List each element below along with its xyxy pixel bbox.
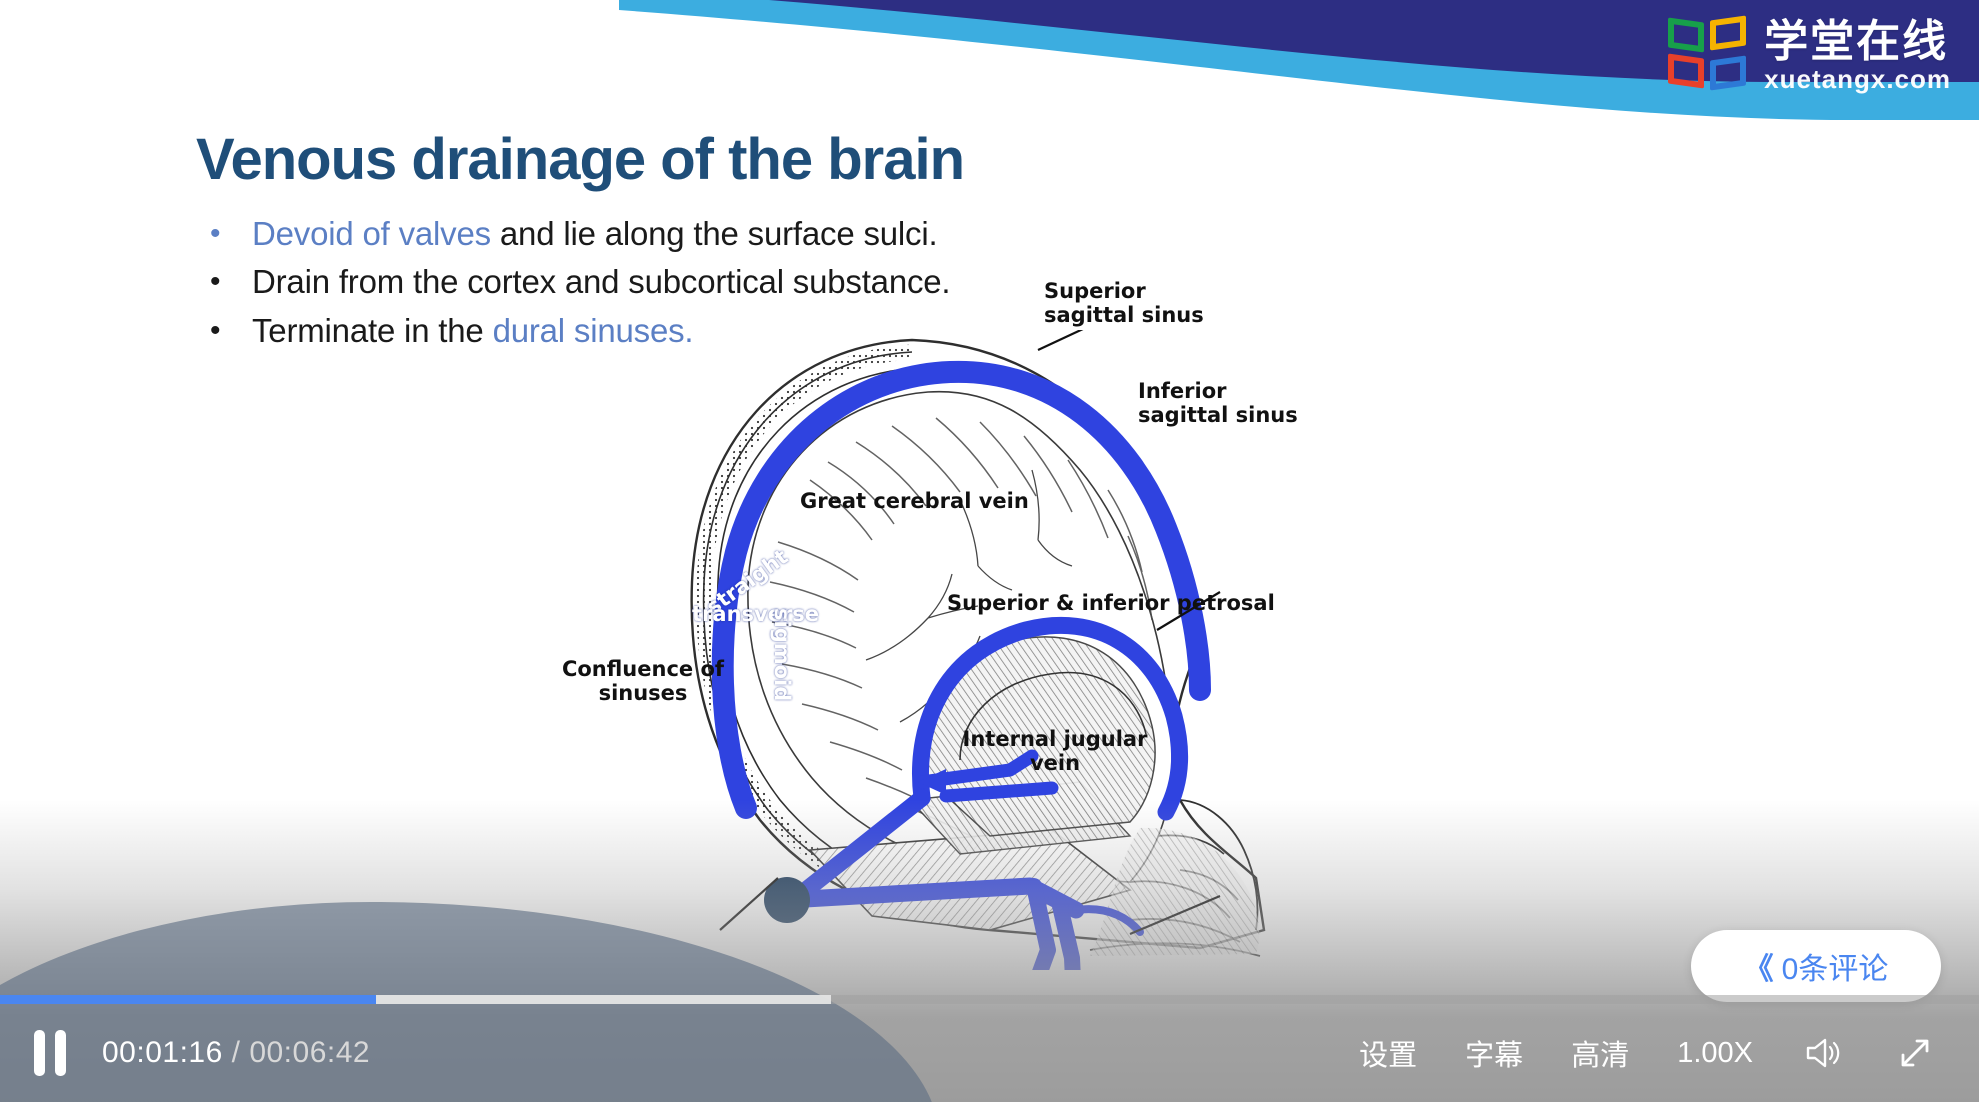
bullet-rest: Terminate in the xyxy=(252,312,493,349)
progress-played xyxy=(0,995,376,1004)
fullscreen-button[interactable] xyxy=(1893,1031,1937,1075)
list-item: • Devoid of valves and lie along the sur… xyxy=(210,215,1310,253)
playback-speed-button[interactable]: 1.00X xyxy=(1677,1037,1753,1070)
label-internal-jugular-vein: Internal jugularvein xyxy=(955,728,1155,775)
volume-button[interactable] xyxy=(1801,1031,1845,1075)
bullet-rest: Drain from the cortex and subcortical su… xyxy=(252,263,950,300)
label-sigmoid-sinus: sigmoid xyxy=(770,608,794,701)
chevron-left-icon: 《 xyxy=(1744,944,1770,988)
bullet-glyph: • xyxy=(210,263,252,301)
time-display: 00:01:16 / 00:06:42 xyxy=(102,1036,370,1070)
current-time: 00:01:16 xyxy=(102,1036,223,1069)
label-superior-sagittal-sinus: Superiorsagittal sinus xyxy=(1044,280,1204,327)
logo-cubes-icon xyxy=(1668,18,1750,94)
pause-icon-bar-2 xyxy=(55,1030,66,1076)
player-controls-bar: 00:01:16 / 00:06:42 设置 字幕 高清 1.00X xyxy=(0,1004,1979,1102)
slide-title: Venous drainage of the brain xyxy=(196,126,964,193)
progress-bar[interactable] xyxy=(0,995,1979,1004)
settings-button[interactable]: 设置 xyxy=(1359,1032,1417,1074)
time-separator: / xyxy=(232,1036,241,1069)
logo-name-cn: 学堂在线 xyxy=(1764,20,1951,64)
bullet-text: Drain from the cortex and subcortical su… xyxy=(252,263,950,301)
comments-toggle-button[interactable]: 《 0条评论 xyxy=(1691,930,1941,1002)
xuetangx-logo: 学堂在线 xuetangx.com xyxy=(1668,18,1951,94)
pause-icon-bar-1 xyxy=(34,1030,45,1076)
controls-left-group: 00:01:16 / 00:06:42 xyxy=(0,1030,370,1076)
bullet-glyph: • xyxy=(210,215,252,253)
bullet-highlight: Devoid of valves xyxy=(252,215,491,252)
pause-button[interactable] xyxy=(34,1030,74,1076)
bullet-glyph: • xyxy=(210,312,252,350)
label-great-cerebral-vein: Great cerebral vein xyxy=(800,490,1029,514)
duration: 00:06:42 xyxy=(249,1036,370,1069)
label-superior-inferior-petrosal: Superior & inferior petrosal xyxy=(947,592,1275,616)
label-transverse-sinus: transverse xyxy=(692,602,819,626)
controls-right-group: 设置 字幕 高清 1.00X xyxy=(1359,1031,1979,1075)
label-confluence-of-sinuses: Confluence ofsinuses xyxy=(548,658,738,705)
subtitles-button[interactable]: 字幕 xyxy=(1465,1032,1523,1074)
logo-cube-red xyxy=(1668,53,1704,88)
logo-cube-green xyxy=(1668,17,1704,52)
logo-cube-yellow xyxy=(1710,15,1746,50)
fullscreen-icon xyxy=(1893,1031,1937,1075)
logo-name-en: xuetangx.com xyxy=(1764,66,1951,92)
label-inferior-sagittal-sinus: Inferiorsagittal sinus xyxy=(1138,380,1298,427)
comments-count-label: 0条评论 xyxy=(1782,944,1889,988)
logo-cube-blue xyxy=(1710,55,1746,90)
bullet-text: Terminate in the dural sinuses. xyxy=(252,312,693,350)
bullet-rest: and lie along the surface sulci. xyxy=(491,215,938,252)
video-player-screen: 学堂在线 xuetangx.com Venous drainage of the… xyxy=(0,0,1979,1102)
speaker-icon xyxy=(1801,1031,1845,1075)
bullet-text: Devoid of valves and lie along the surfa… xyxy=(252,215,937,253)
quality-button[interactable]: 高清 xyxy=(1571,1032,1629,1074)
